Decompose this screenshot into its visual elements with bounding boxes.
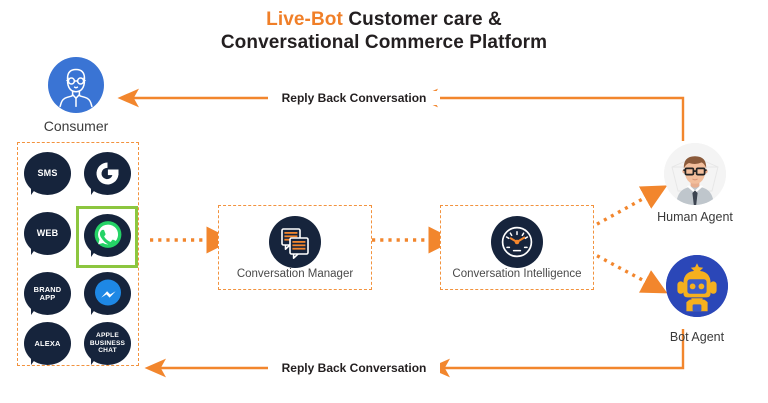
bot-agent-avatar-icon xyxy=(666,255,728,317)
messenger-glyph xyxy=(84,272,131,315)
channel-alexa[interactable]: ALEXA xyxy=(24,322,71,369)
channel-brand-app[interactable]: BRAND APP xyxy=(24,272,71,319)
intelligence-to-bot-arrow xyxy=(590,252,648,283)
google-g-glyph xyxy=(84,152,131,195)
channel-apple-business-chat-label: APPLE BUSINESS CHAT xyxy=(84,322,131,365)
human-agent-label: Human Agent xyxy=(636,210,754,224)
consumer-avatar-icon xyxy=(48,57,104,113)
channel-whatsapp[interactable] xyxy=(84,214,131,261)
consumer-label: Consumer xyxy=(26,118,126,134)
human-agent-avatar-icon xyxy=(664,143,726,205)
bot-agent-label: Bot Agent xyxy=(638,330,756,344)
conversation-manager-icon xyxy=(269,216,321,268)
conversation-intelligence-box[interactable]: Conversation Intelligence xyxy=(440,205,594,290)
conversation-intelligence-label: Conversation Intelligence xyxy=(441,268,593,280)
channel-sms[interactable]: SMS xyxy=(24,152,71,199)
conversation-manager-box[interactable]: Conversation Manager xyxy=(218,205,372,290)
channel-brand-app-label: BRAND APP xyxy=(24,272,71,315)
channel-web[interactable]: WEB xyxy=(24,212,71,259)
bottom-reply-label: Reply Back Conversation xyxy=(268,361,440,375)
top-reply-label: Reply Back Conversation xyxy=(268,91,440,105)
channel-messenger[interactable] xyxy=(84,272,131,319)
channel-web-label: WEB xyxy=(24,212,71,255)
channel-sms-label: SMS xyxy=(24,152,71,195)
consumer-avatar[interactable] xyxy=(48,57,104,113)
channel-alexa-label: ALEXA xyxy=(24,322,71,365)
diagram-canvas: Live-Bot Customer care & Conversational … xyxy=(0,0,768,403)
channel-apple-business-chat[interactable]: APPLE BUSINESS CHAT xyxy=(84,322,131,369)
conversation-manager-label: Conversation Manager xyxy=(219,268,371,280)
bot-agent-avatar[interactable] xyxy=(666,255,728,317)
channel-google[interactable] xyxy=(84,152,131,199)
whatsapp-glyph xyxy=(84,214,131,257)
speedometer-icon xyxy=(491,216,543,268)
human-agent-avatar[interactable] xyxy=(664,143,726,205)
